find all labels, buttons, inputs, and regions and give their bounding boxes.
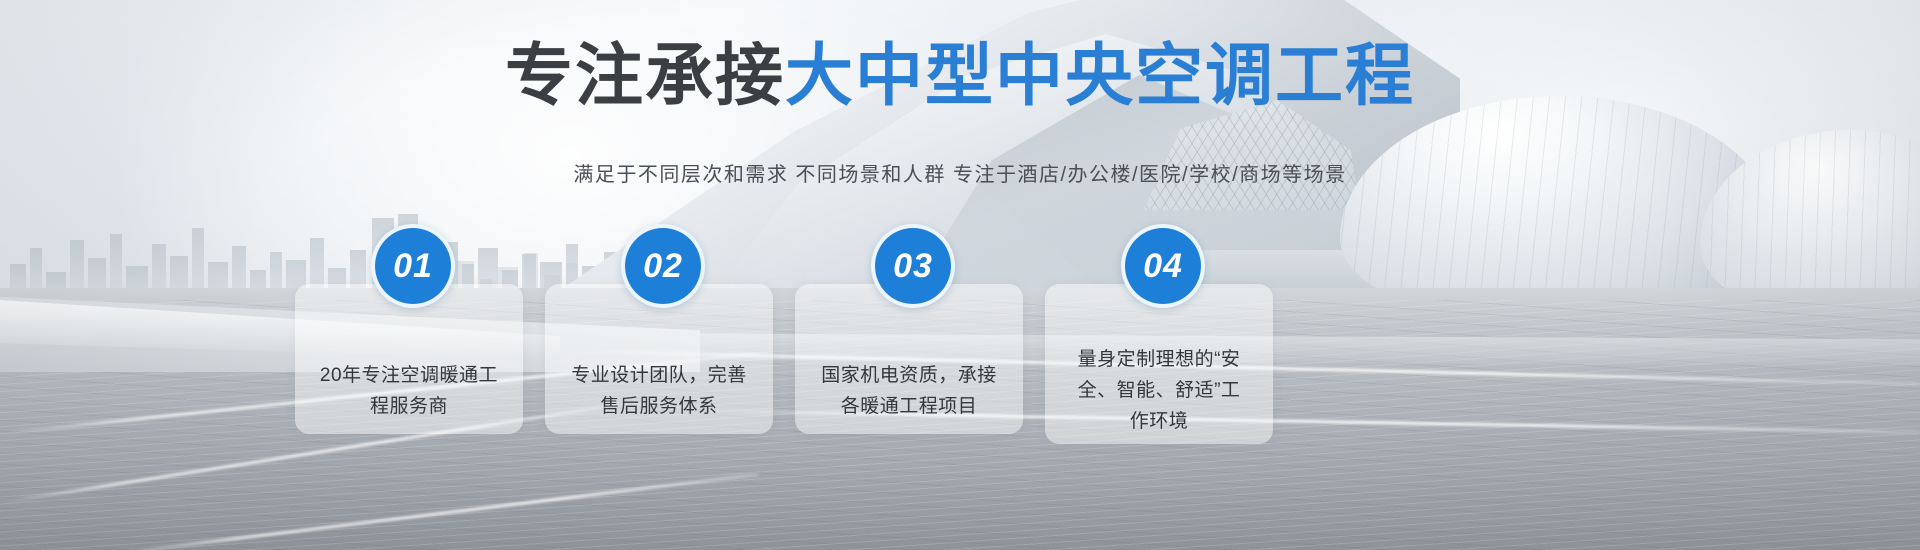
feature-card-line: 量身定制理想的“安 [1045, 344, 1273, 375]
headline-part-blue: 大中型中央空调工程 [785, 38, 1415, 114]
page-subtitle: 满足于不同层次和需求 不同场景和人群 专注于酒店/办公楼/医院/学校/商场等场景 [0, 158, 1920, 187]
feature-badge-01: 01 [371, 224, 455, 308]
headline-part-dark: 专注承接 [505, 38, 785, 114]
feature-badge-02: 02 [621, 224, 705, 308]
feature-badge-03: 03 [871, 224, 955, 308]
feature-card[interactable]: 量身定制理想的“安 全、智能、舒适”工 作环境 [1045, 284, 1273, 444]
feature-card-line: 20年专注空调暖通工 [295, 360, 523, 391]
feature-card-line: 各暖通工程项目 [795, 391, 1023, 422]
page-title: 专注承接大中型中央空调工程 [0, 42, 1920, 110]
feature-card-line: 全、智能、舒适”工 [1045, 375, 1273, 406]
feature-card-line: 国家机电资质，承接 [795, 360, 1023, 391]
feature-card-line: 专业设计团队，完善 [545, 360, 773, 391]
feature-card-text: 20年专注空调暖通工 程服务商 [295, 360, 523, 422]
feature-card-text: 专业设计团队，完善 售后服务体系 [545, 360, 773, 422]
feature-card-text: 量身定制理想的“安 全、智能、舒适”工 作环境 [1045, 344, 1273, 437]
hero-banner: 专注承接大中型中央空调工程 满足于不同层次和需求 不同场景和人群 专注于酒店/办… [0, 0, 1920, 550]
feature-card-list: 20年专注空调暖通工 程服务商 01 专业设计团队，完善 售后服务体系 02 国… [295, 224, 1535, 434]
feature-card-line: 售后服务体系 [545, 391, 773, 422]
feature-badge-04: 04 [1121, 224, 1205, 308]
feature-card-text: 国家机电资质，承接 各暖通工程项目 [795, 360, 1023, 422]
feature-card-line: 作环境 [1045, 406, 1273, 437]
feature-card-line: 程服务商 [295, 391, 523, 422]
